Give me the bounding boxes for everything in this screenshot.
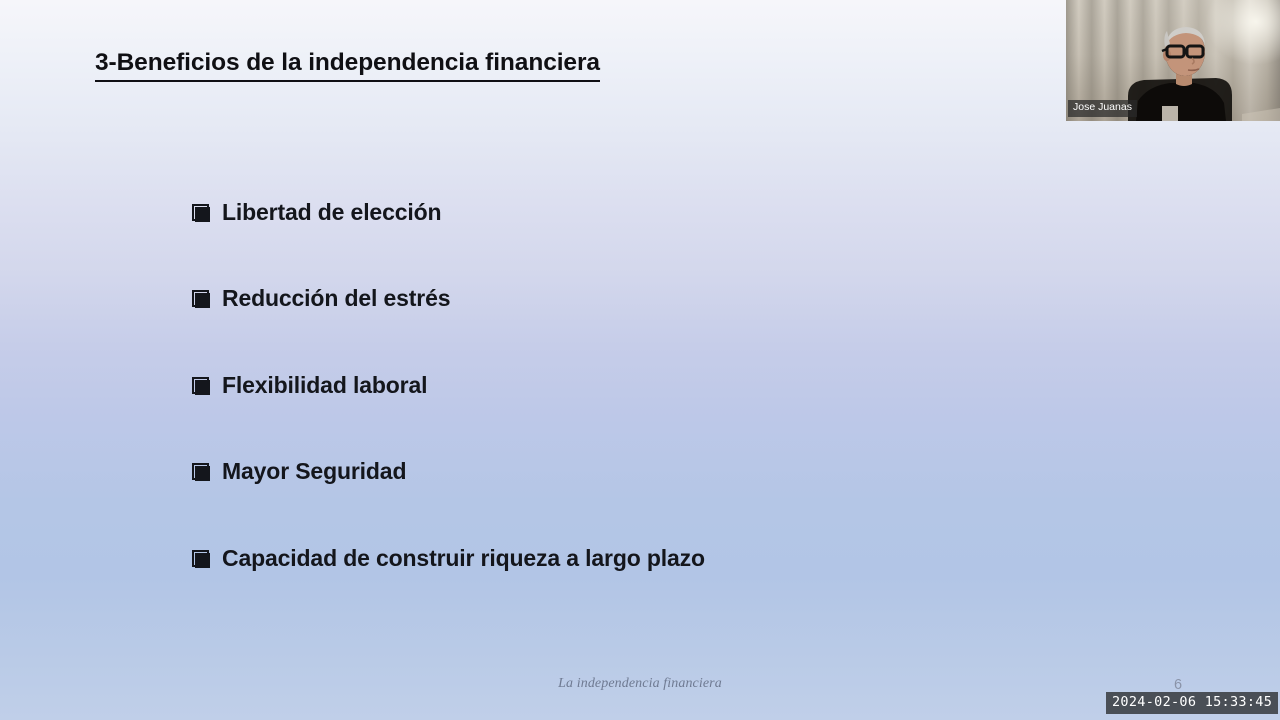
bullet-item: Flexibilidad laboral <box>192 373 1092 459</box>
slide-title: 3-Beneficios de la independencia financi… <box>95 50 600 82</box>
bullet-item-label: Mayor Seguridad <box>222 459 406 484</box>
webcam-video-overlay[interactable]: Jose Juanas <box>1066 0 1280 121</box>
bullet-item: Mayor Seguridad <box>192 459 1092 545</box>
presentation-slide: 3-Beneficios de la independencia financi… <box>0 0 1280 720</box>
bullet-item-label: Capacidad de construir riqueza a largo p… <box>222 546 705 571</box>
slide-page-number: 6 <box>1150 677 1206 693</box>
bullet-item: Capacidad de construir riqueza a largo p… <box>192 546 1092 632</box>
webcam-participant-name: Jose Juanas <box>1068 100 1137 117</box>
bullet-list: Libertad de elección Reducción del estré… <box>192 200 1092 632</box>
slide-footer-subtitle: La independencia financiera <box>0 676 1280 692</box>
bullet-item-label: Reducción del estrés <box>222 286 450 311</box>
bullet-item: Reducción del estrés <box>192 286 1092 372</box>
bullet-item-label: Libertad de elección <box>222 200 441 225</box>
recording-timestamp: 2024-02-06 15:33:45 <box>1106 692 1278 714</box>
bullet-item: Libertad de elección <box>192 200 1092 286</box>
bullet-item-label: Flexibilidad laboral <box>222 373 427 398</box>
